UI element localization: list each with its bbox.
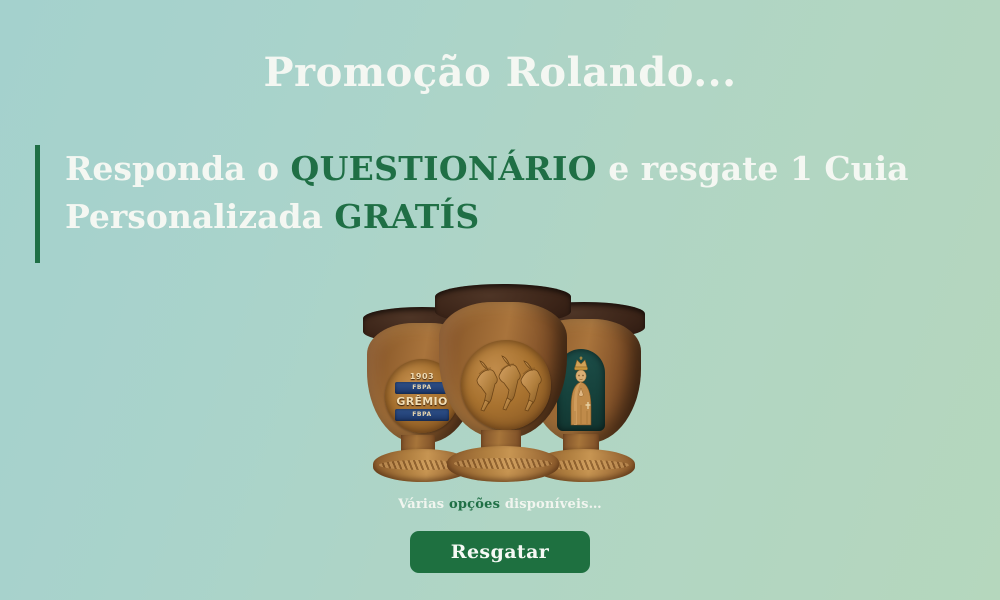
running-horses-icon	[461, 340, 551, 430]
headline-line2-pre: Personalizada	[65, 197, 334, 236]
horses-medallion	[461, 340, 551, 430]
headline-highlight-gratis: GRATÍS	[334, 197, 479, 236]
caption-pre: Várias	[398, 497, 449, 512]
product-image-cuias: 1903 FBPA GRÊMIO FBPA	[355, 282, 645, 482]
headline-highlight-questionario: QUESTIONÁRIO	[291, 149, 597, 188]
caption-post: disponíveis…	[500, 497, 602, 512]
crest-year-label: 1903	[410, 372, 434, 381]
caption-accent: opções	[449, 497, 500, 512]
promo-banner: Promoção Rolando... Responda o QUESTIONÁ…	[0, 0, 1000, 600]
headline-line-1: Responda o QUESTIONÁRIO e resgate 1 Cuia	[65, 145, 935, 193]
crest-band-top-label: FBPA	[412, 384, 432, 391]
headline-block: Responda o QUESTIONÁRIO e resgate 1 Cuia…	[35, 145, 935, 263]
cuia-horses	[435, 284, 571, 482]
cuia-foot	[447, 446, 559, 482]
page-title: Promoção Rolando...	[0, 48, 1000, 98]
headline-line1-pre: Responda o	[65, 149, 291, 188]
resgatar-button[interactable]: Resgatar	[410, 531, 590, 573]
headline-line-2: Personalizada GRATÍS	[65, 193, 935, 241]
cuia-body	[439, 302, 567, 438]
crest-band-bottom-label: FBPA	[412, 411, 432, 418]
availability-caption: Várias opções disponíveis…	[0, 497, 1000, 512]
headline-line1-post: e resgate 1 Cuia	[597, 149, 909, 188]
